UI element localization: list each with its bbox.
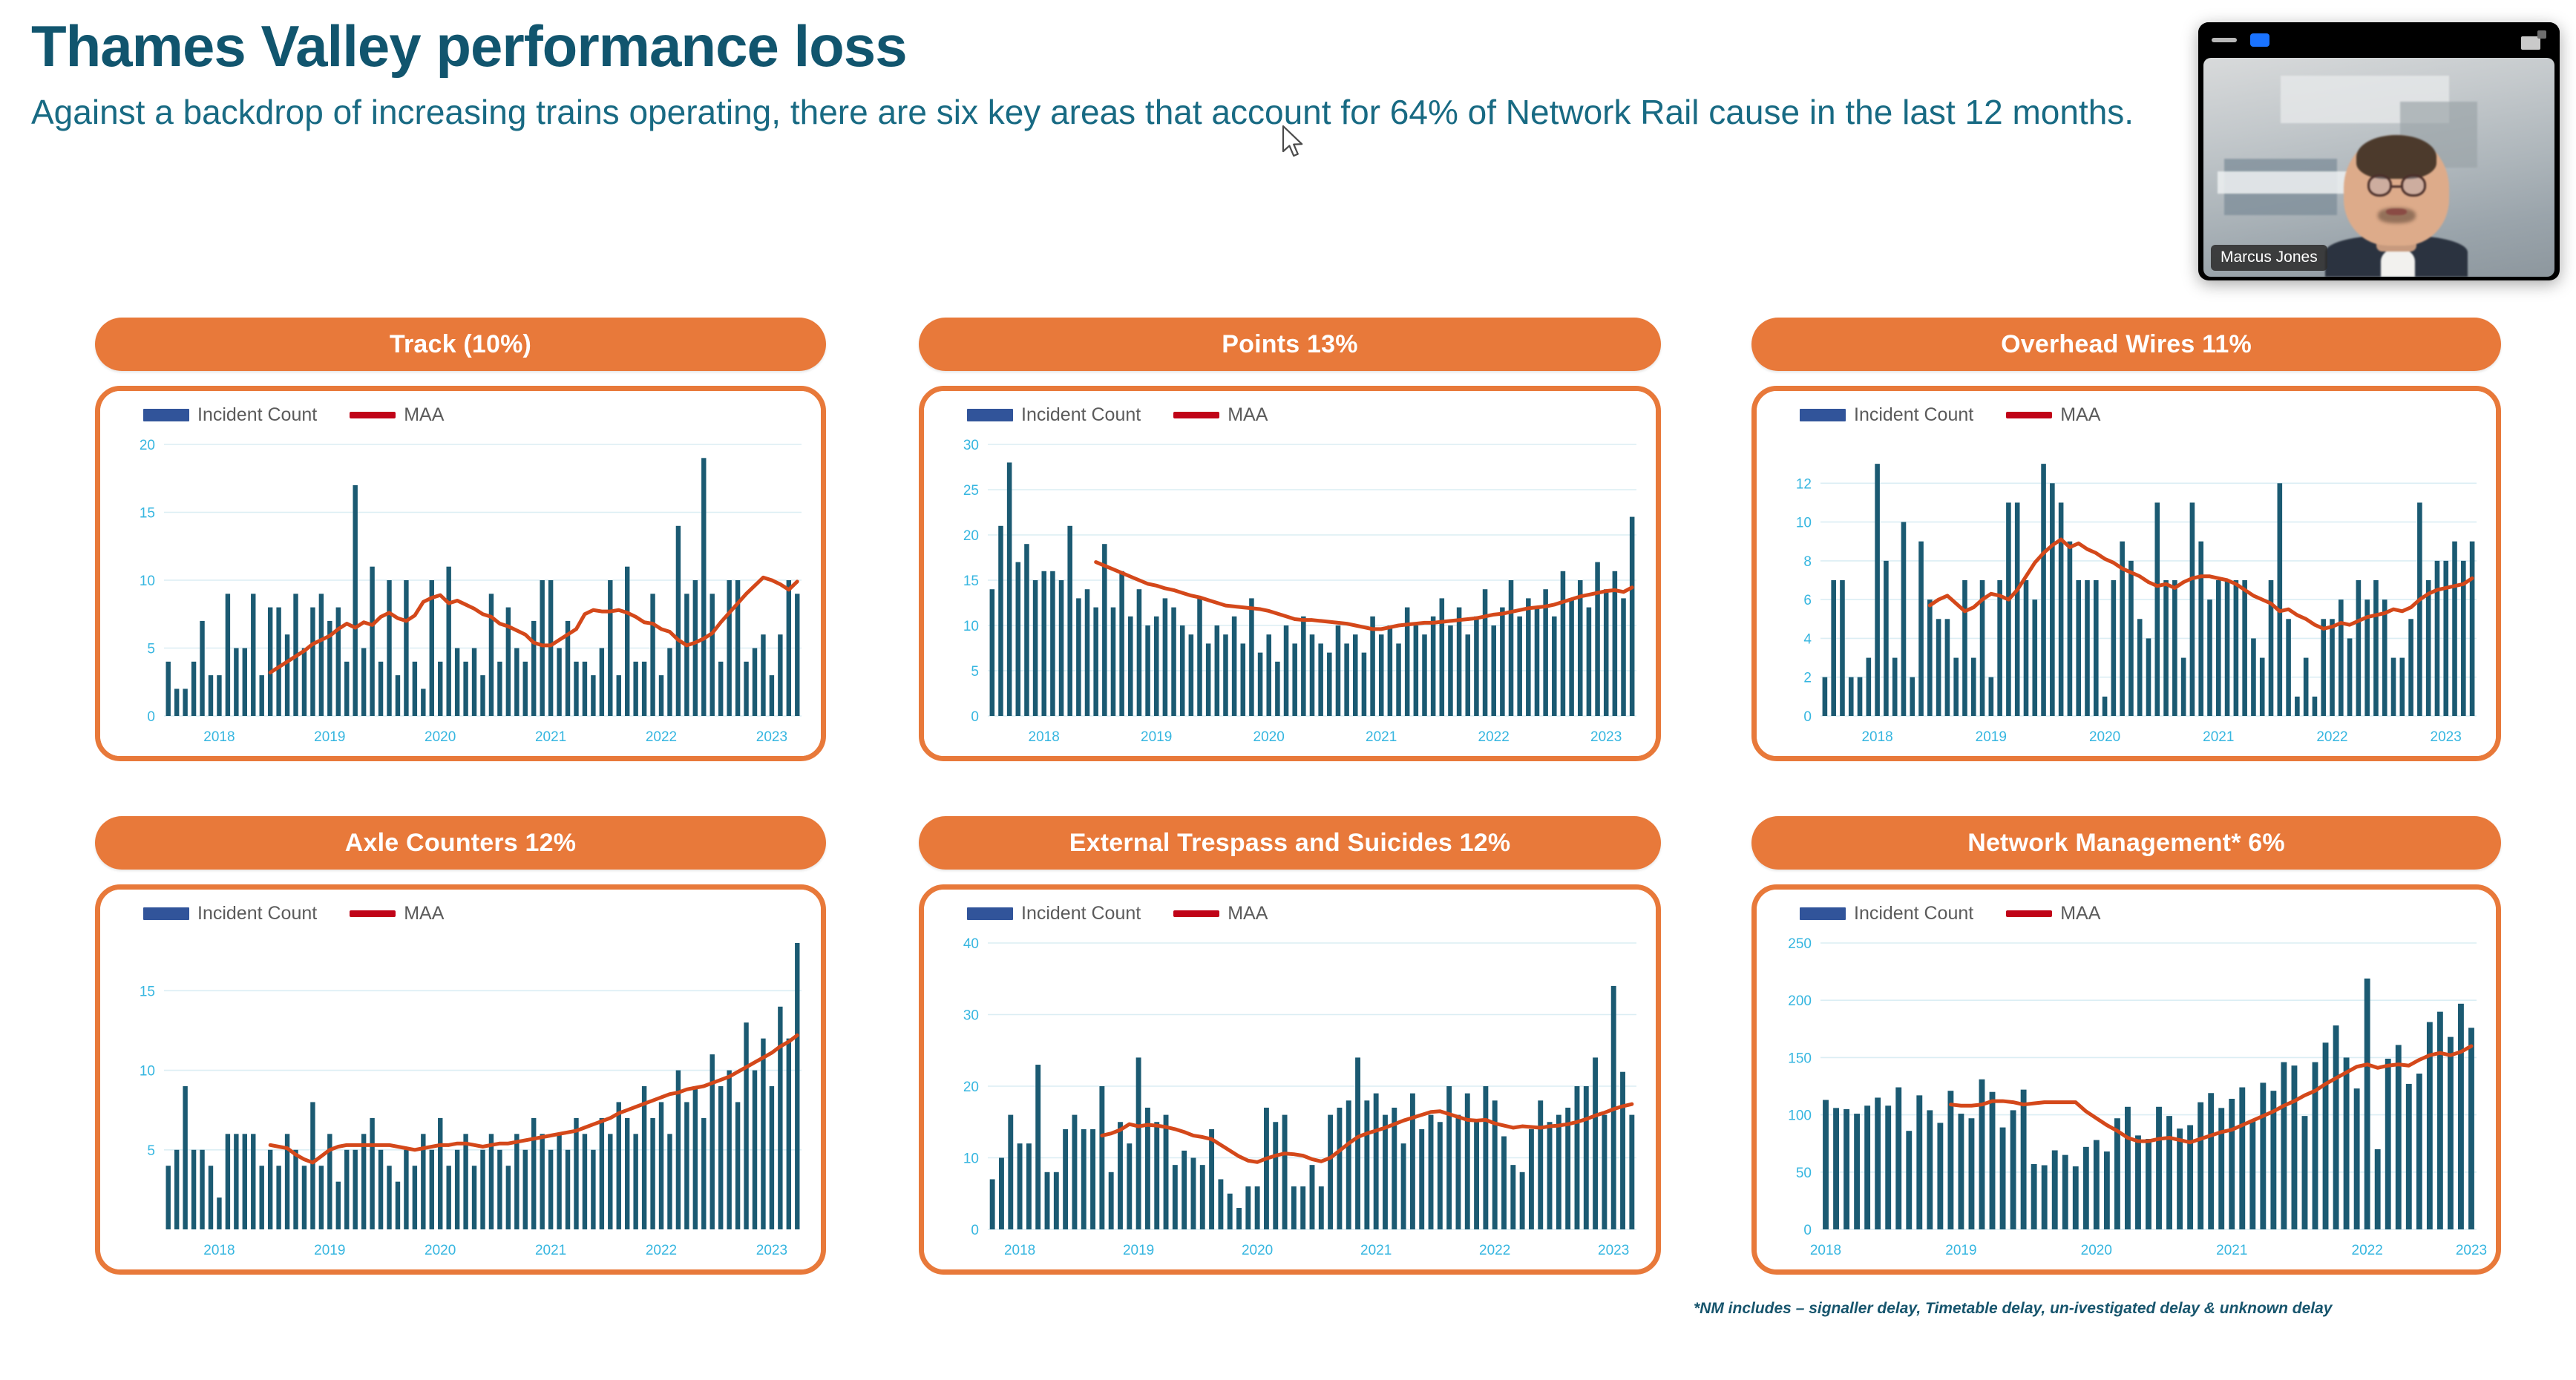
presentation-slide: Thames Valley performance loss Against a… [0,0,2576,1380]
layout-switch-icon[interactable] [2521,30,2546,50]
svg-text:2021: 2021 [2216,1243,2247,1258]
chart-plot-points: 051015202530201820192020202120222023 [924,391,1656,756]
svg-text:8: 8 [1803,554,1812,570]
participant-video [2319,119,2474,277]
svg-text:2019: 2019 [314,729,345,745]
chart-card-points: Points 13%Incident CountMAA0510152025302… [919,318,1661,761]
svg-text:10: 10 [963,1151,979,1167]
chart-header-axle-counters[interactable]: Axle Counters 12% [95,816,826,870]
chart-header-track[interactable]: Track (10%) [95,318,826,371]
svg-text:2021: 2021 [1366,729,1397,745]
svg-text:15: 15 [140,984,155,999]
participant-name-tag: Marcus Jones [2211,245,2327,271]
svg-text:2022: 2022 [646,1243,677,1258]
chart-plot-axle-counters: 51015201820192020202120222023 [100,890,821,1269]
svg-text:0: 0 [147,709,155,725]
svg-text:10: 10 [1796,516,1812,531]
chart-plot-network-management: 050100150200250201820192020202120222023 [1757,890,2496,1269]
svg-text:6: 6 [1803,593,1812,608]
svg-text:2020: 2020 [425,1243,456,1258]
video-call-panel[interactable]: Marcus Jones [2198,22,2560,280]
chart-header-external-trespass[interactable]: External Trespass and Suicides 12% [919,816,1661,870]
chart-frame-axle-counters: Incident CountMAA51015201820192020202120… [95,884,826,1275]
active-tile-icon[interactable] [2250,33,2269,47]
svg-text:2018: 2018 [203,729,235,745]
svg-text:2021: 2021 [535,1243,566,1258]
svg-text:2019: 2019 [1123,1243,1154,1258]
svg-text:30: 30 [963,1008,979,1024]
chart-plot-external-trespass: 010203040201820192020202120222023 [924,890,1656,1269]
svg-text:250: 250 [1788,936,1812,952]
svg-text:0: 0 [971,709,979,725]
svg-text:2022: 2022 [2316,729,2347,745]
svg-text:0: 0 [971,1223,979,1238]
svg-text:50: 50 [1796,1166,1812,1181]
svg-text:2019: 2019 [1945,1243,1976,1258]
svg-text:2020: 2020 [2089,729,2120,745]
svg-text:2: 2 [1803,671,1812,686]
svg-text:12: 12 [1796,476,1812,492]
svg-text:5: 5 [147,1143,155,1159]
network-management-footnote: *NM includes – signaller delay, Timetabl… [1694,1300,2332,1318]
mouse-pointer-icon [1282,125,1307,159]
svg-text:2023: 2023 [2431,729,2462,745]
chart-frame-external-trespass: Incident CountMAA01020304020182019202020… [919,884,1661,1275]
svg-text:2022: 2022 [2352,1243,2383,1258]
svg-text:20: 20 [963,1080,979,1095]
svg-text:2018: 2018 [1029,729,1060,745]
chart-plot-track: 05101520201820192020202120222023 [100,391,821,756]
svg-text:2021: 2021 [2203,729,2234,745]
svg-text:10: 10 [140,1064,155,1080]
title-block: Thames Valley performance loss Against a… [31,16,2258,134]
svg-text:2023: 2023 [1598,1243,1629,1258]
svg-text:10: 10 [963,619,979,634]
svg-text:2018: 2018 [1861,729,1892,745]
svg-text:2022: 2022 [646,729,677,745]
minimize-icon[interactable] [2212,38,2237,42]
chart-header-points[interactable]: Points 13% [919,318,1661,371]
svg-text:5: 5 [971,664,979,680]
svg-text:4: 4 [1803,631,1812,647]
page-title: Thames Valley performance loss [31,16,2258,77]
svg-text:15: 15 [963,574,979,589]
svg-text:2022: 2022 [1478,729,1510,745]
chart-card-external-trespass: External Trespass and Suicides 12%Incide… [919,816,1661,1275]
svg-text:200: 200 [1788,993,1812,1009]
svg-text:2020: 2020 [1253,729,1285,745]
svg-text:20: 20 [140,438,155,453]
chart-plot-overhead-wires: 024681012201820192020202120222023 [1757,391,2496,756]
chart-frame-points: Incident CountMAA05101520253020182019202… [919,386,1661,761]
svg-text:2019: 2019 [1976,729,2007,745]
svg-text:2019: 2019 [314,1243,345,1258]
chart-frame-track: Incident CountMAA05101520201820192020202… [95,386,826,761]
svg-text:2021: 2021 [1360,1243,1392,1258]
video-toolbar [2198,22,2560,58]
video-stage[interactable]: Marcus Jones [2203,58,2554,277]
chart-frame-network-management: Incident CountMAA05010015020025020182019… [1751,884,2501,1275]
svg-text:30: 30 [963,438,979,453]
slide-subtitle: Against a backdrop of increasing trains … [31,91,2258,134]
svg-text:2021: 2021 [535,729,566,745]
svg-text:2020: 2020 [2081,1243,2112,1258]
svg-text:15: 15 [140,506,155,522]
chart-grid: Track (10%)Incident CountMAA051015202018… [95,318,2507,1327]
svg-text:20: 20 [963,528,979,544]
chart-card-network-management: Network Management* 6%Incident CountMAA0… [1751,816,2501,1275]
svg-text:10: 10 [140,574,155,589]
svg-text:100: 100 [1788,1108,1812,1124]
chart-card-overhead-wires: Overhead Wires 11%Incident CountMAA02468… [1751,318,2501,761]
svg-text:2020: 2020 [1242,1243,1273,1258]
svg-text:40: 40 [963,936,979,952]
svg-text:2018: 2018 [1810,1243,1841,1258]
chart-header-network-management[interactable]: Network Management* 6% [1751,816,2501,870]
svg-text:2023: 2023 [2456,1243,2487,1258]
svg-text:0: 0 [1803,709,1812,725]
chart-card-axle-counters: Axle Counters 12%Incident CountMAA510152… [95,816,826,1275]
svg-text:2018: 2018 [203,1243,235,1258]
chart-card-track: Track (10%)Incident CountMAA051015202018… [95,318,826,761]
svg-text:5: 5 [147,642,155,657]
svg-text:2018: 2018 [1004,1243,1035,1258]
svg-text:2020: 2020 [425,729,456,745]
svg-text:2023: 2023 [1590,729,1622,745]
svg-text:2023: 2023 [756,729,787,745]
svg-text:150: 150 [1788,1051,1812,1066]
svg-text:2023: 2023 [756,1243,787,1258]
svg-text:0: 0 [1803,1223,1812,1238]
svg-text:25: 25 [963,483,979,499]
chart-frame-overhead-wires: Incident CountMAA02468101220182019202020… [1751,386,2501,761]
svg-text:2019: 2019 [1141,729,1172,745]
chart-header-overhead-wires[interactable]: Overhead Wires 11% [1751,318,2501,371]
svg-text:2022: 2022 [1479,1243,1510,1258]
